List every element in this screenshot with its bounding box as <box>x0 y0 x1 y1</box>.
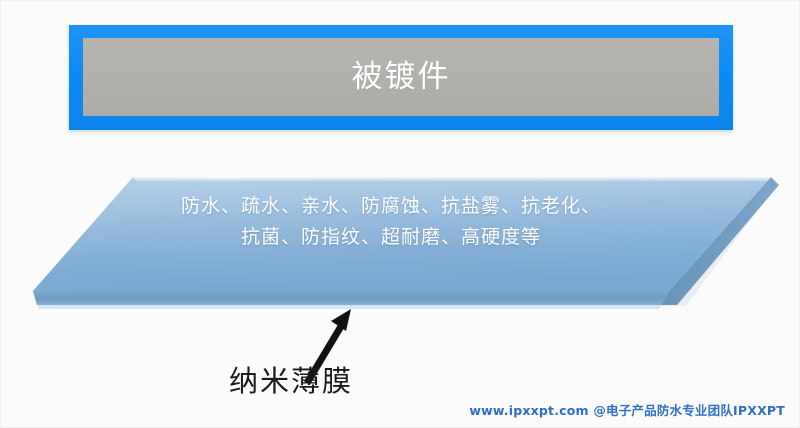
nano-film-slab-shape <box>1 151 800 326</box>
slab-top-face <box>33 177 771 291</box>
slab-top-highlight <box>133 177 771 182</box>
diagram-canvas: 被镀件 <box>0 0 800 428</box>
nano-film-slab: 防水、疏水、亲水、防腐蚀、抗盐雾、抗老化、 抗菌、防指纹、超耐磨、高硬度等 <box>1 151 800 326</box>
nano-film-caption: 纳米薄膜 <box>229 367 353 396</box>
substrate-panel: 被镀件 <box>83 38 719 116</box>
substrate-frame: 被镀件 <box>69 25 733 130</box>
substrate-label: 被镀件 <box>352 62 451 93</box>
watermark-text: www.ipxxpt.com @电子产品防水专业团队IPXXPT <box>469 400 785 419</box>
